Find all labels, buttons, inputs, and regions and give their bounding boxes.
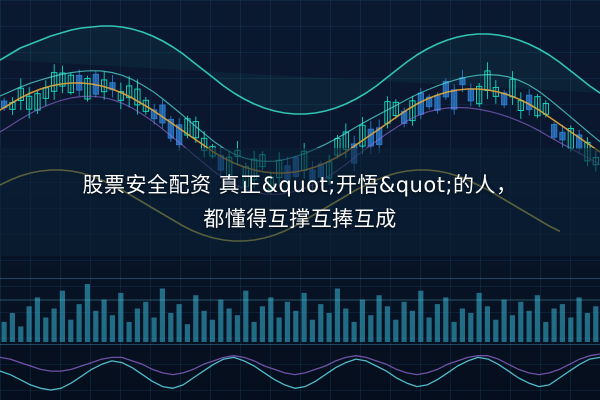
headline-line-1: 股票安全配资 真正&quot;开悟&quot;的人， <box>82 168 517 202</box>
panel-separator-lower <box>0 344 600 345</box>
headline-overlay: 股票安全配资 真正&quot;开悟&quot;的人， 都懂得互撑互捧互成 <box>0 148 600 256</box>
chart-background-image: 股票安全配资 真正&quot;开悟&quot;的人， 都懂得互撑互捧互成 <box>0 0 600 400</box>
headline-line-2: 都懂得互撑互捧互成 <box>203 202 397 236</box>
panel-separator-upper <box>0 278 600 279</box>
